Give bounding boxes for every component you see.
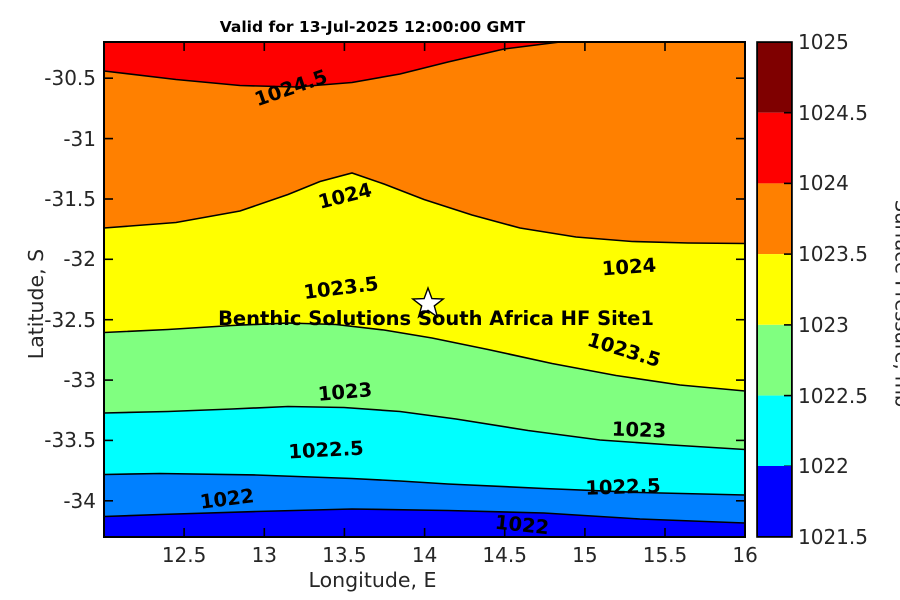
xaxis-title: Longitude, E [0,568,745,592]
contour-label-1022p5: 1022.5 [288,437,364,464]
colorbar-tick-label-1: 1024.5 [798,101,868,125]
colorbar-tick-label-0: 1025 [798,30,849,54]
figure-canvas: Valid for 13-Jul-2025 12:00:00 GMT [0,0,900,600]
ytick-label-1: -31 [8,127,96,151]
colorbar-tick-label-2: 1024 [798,171,849,195]
ytick-label-6: -33.5 [8,428,96,452]
xtick-label-7: 16 [732,543,757,567]
contour-label-1023: 1023 [611,418,666,443]
colorbar-tick-label-4: 1023 [798,313,849,337]
ytick-label-2: -31.5 [8,187,96,211]
colorbar-swatch-1024p5-1025 [757,42,792,113]
colorbar-swatch-1023-1023p5 [757,254,792,325]
xtick-label-2: 13.5 [322,543,367,567]
contour-bands [104,42,745,537]
colorbar-swatch-1022-1022p5 [757,396,792,467]
yaxis-title: Latitude, S [24,194,48,414]
ytick-label-0: -30.5 [8,66,96,90]
xtick-label-0: 12.5 [162,543,207,567]
ytick-label-7: -34 [8,489,96,513]
colorbar-tick-label-6: 1022 [798,454,849,478]
contour-label-1023: 1023 [317,378,373,406]
xtick-label-6: 15.5 [643,543,688,567]
colorbar-swatch-1022p5-1023 [757,325,792,396]
colorbar[interactable] [757,42,792,537]
colorbar-swatch-1021p5 [757,466,792,537]
site-label: Benthic Solutions South Africa HF Site1 [218,307,654,330]
xtick-label-1: 13 [252,543,277,567]
colorbar-title: Surface Pressure, mb [891,174,900,434]
colorbar-tick-label-7: 1021.5 [798,525,868,549]
xtick-label-5: 15 [572,543,597,567]
colorbar-tick-label-3: 1023.5 [798,242,868,266]
ytick-label-5: -33 [8,368,96,392]
contour-label-1022p5: 1022.5 [585,474,661,500]
xtick-label-4: 14.5 [482,543,527,567]
colorbar-tick-label-5: 1022.5 [798,384,868,408]
ytick-label-3: -32 [8,247,96,271]
colorbar-swatch-1024-1024p5 [757,113,792,184]
contour-label-1024: 1024 [601,254,657,281]
ytick-label-4: -32.5 [8,308,96,332]
colorbar-swatch-1023p5-1024 [757,183,792,254]
xtick-label-3: 14 [412,543,437,567]
